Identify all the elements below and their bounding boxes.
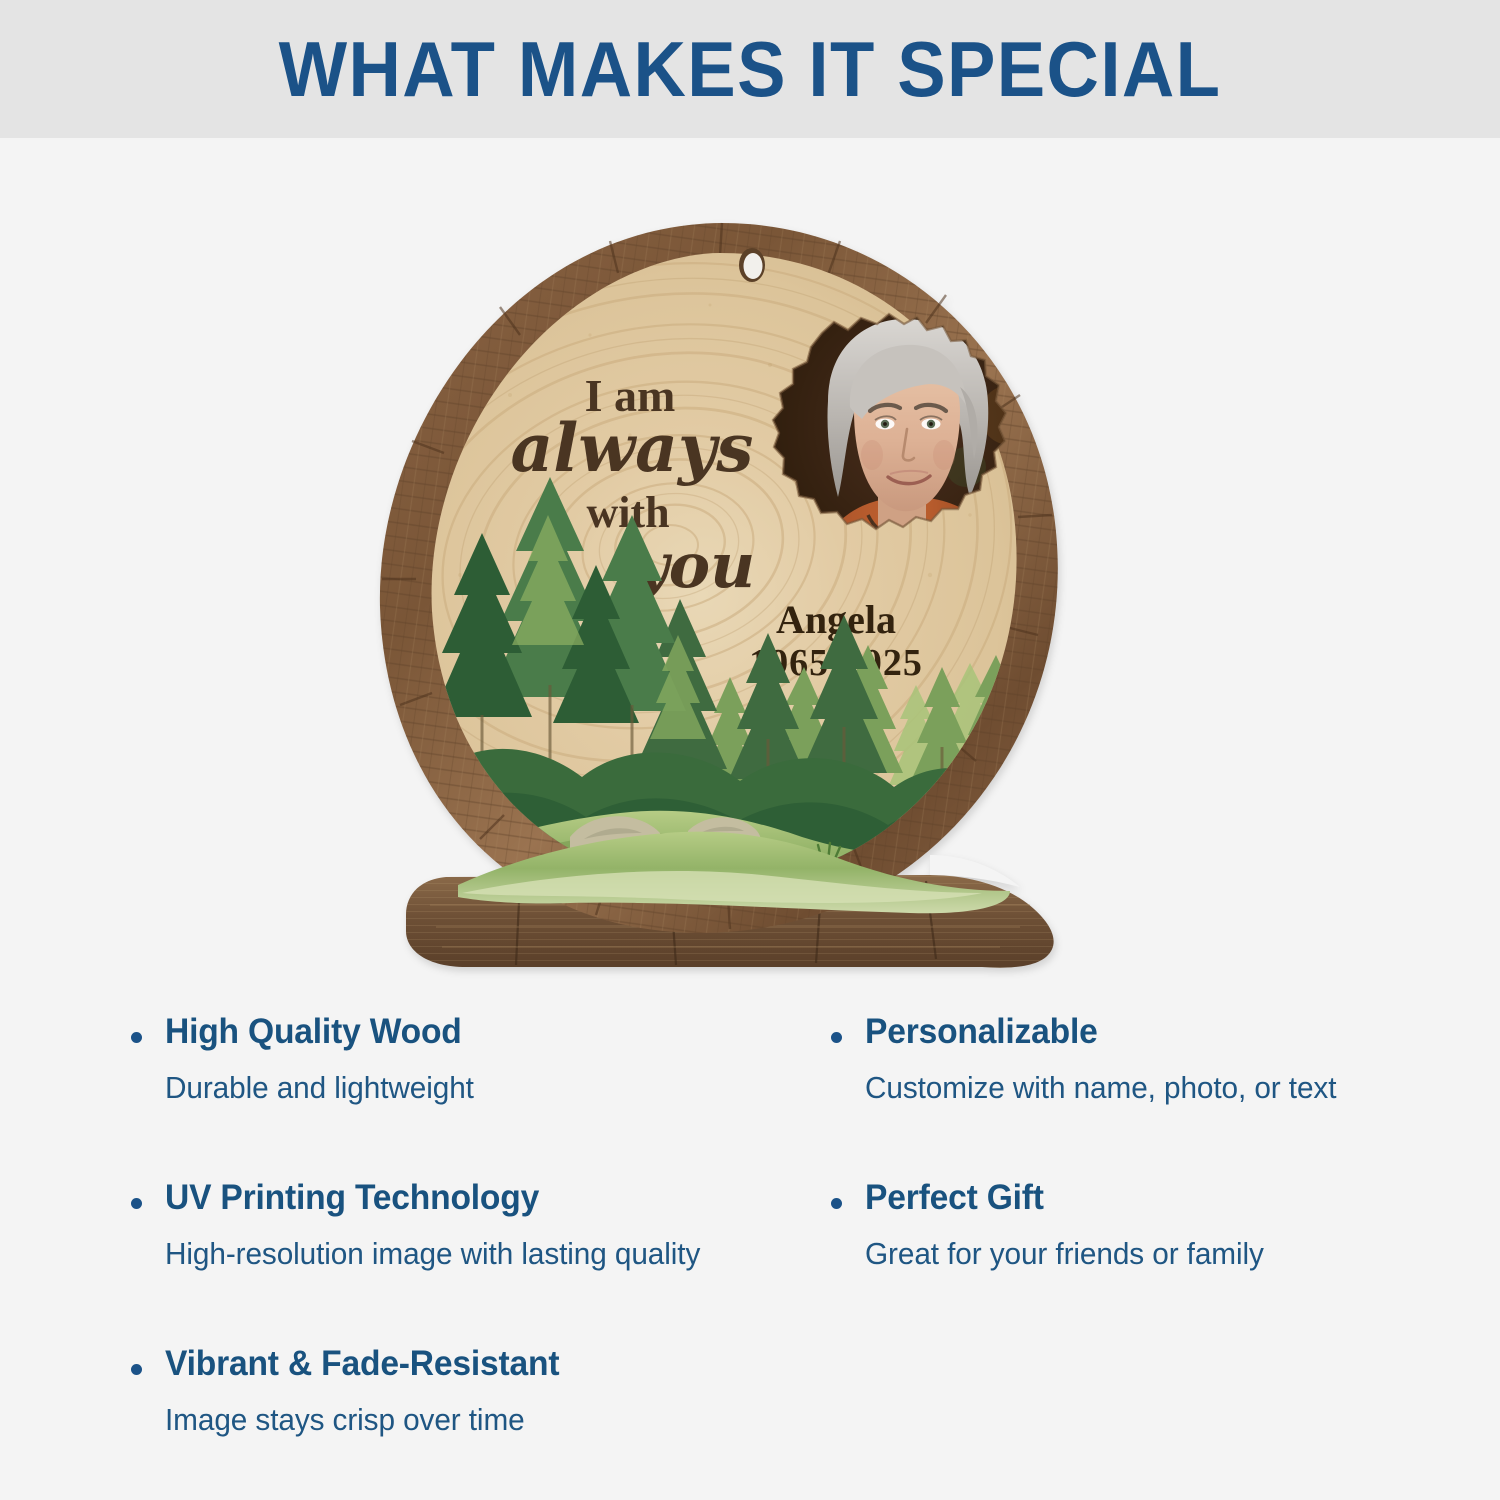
feature-desc: Image stays crisp over time — [165, 1400, 779, 1440]
feature-title: Vibrant & Fade-Resistant — [165, 1342, 779, 1386]
features-column-right: Personalizable Customize with name, phot… — [825, 1010, 1445, 1330]
feature-desc: Customize with name, photo, or text — [865, 1068, 1422, 1108]
bullet-dot-icon — [131, 1198, 142, 1209]
feature-title: Personalizable — [865, 1010, 1422, 1054]
feature-desc: Durable and lightweight — [165, 1068, 779, 1108]
feature-item-perfect-gift: Perfect Gift Great for your friends or f… — [825, 1176, 1445, 1274]
feature-desc: High-resolution image with lasting quali… — [165, 1234, 779, 1274]
bullet-dot-icon — [131, 1364, 142, 1375]
page-title: WHAT MAKES IT SPECIAL — [53, 0, 1448, 138]
product-image: I am always with you — [370, 215, 1090, 985]
feature-title: Perfect Gift — [865, 1176, 1422, 1220]
feature-item-uv-printing-technology: UV Printing Technology High-resolution i… — [125, 1176, 805, 1274]
quote-line-2: always — [511, 409, 754, 487]
hanging-hole-icon — [739, 248, 765, 282]
ornament-graphic: I am always with you — [370, 215, 1090, 985]
features-column-left: High Quality Wood Durable and lightweigh… — [125, 1010, 805, 1496]
feature-title: High Quality Wood — [165, 1010, 779, 1054]
feature-item-vibrant-fade-resistant: Vibrant & Fade-Resistant Image stays cri… — [125, 1342, 805, 1440]
bullet-dot-icon — [831, 1198, 842, 1209]
features-section: High Quality Wood Durable and lightweigh… — [0, 1010, 1500, 1440]
feature-item-personalizable: Personalizable Customize with name, phot… — [825, 1010, 1445, 1108]
feature-title: UV Printing Technology — [165, 1176, 779, 1220]
feature-desc: Great for your friends or family — [865, 1234, 1422, 1274]
bullet-dot-icon — [831, 1032, 842, 1043]
bullet-dot-icon — [131, 1032, 142, 1043]
feature-item-high-quality-wood: High Quality Wood Durable and lightweigh… — [125, 1010, 805, 1108]
